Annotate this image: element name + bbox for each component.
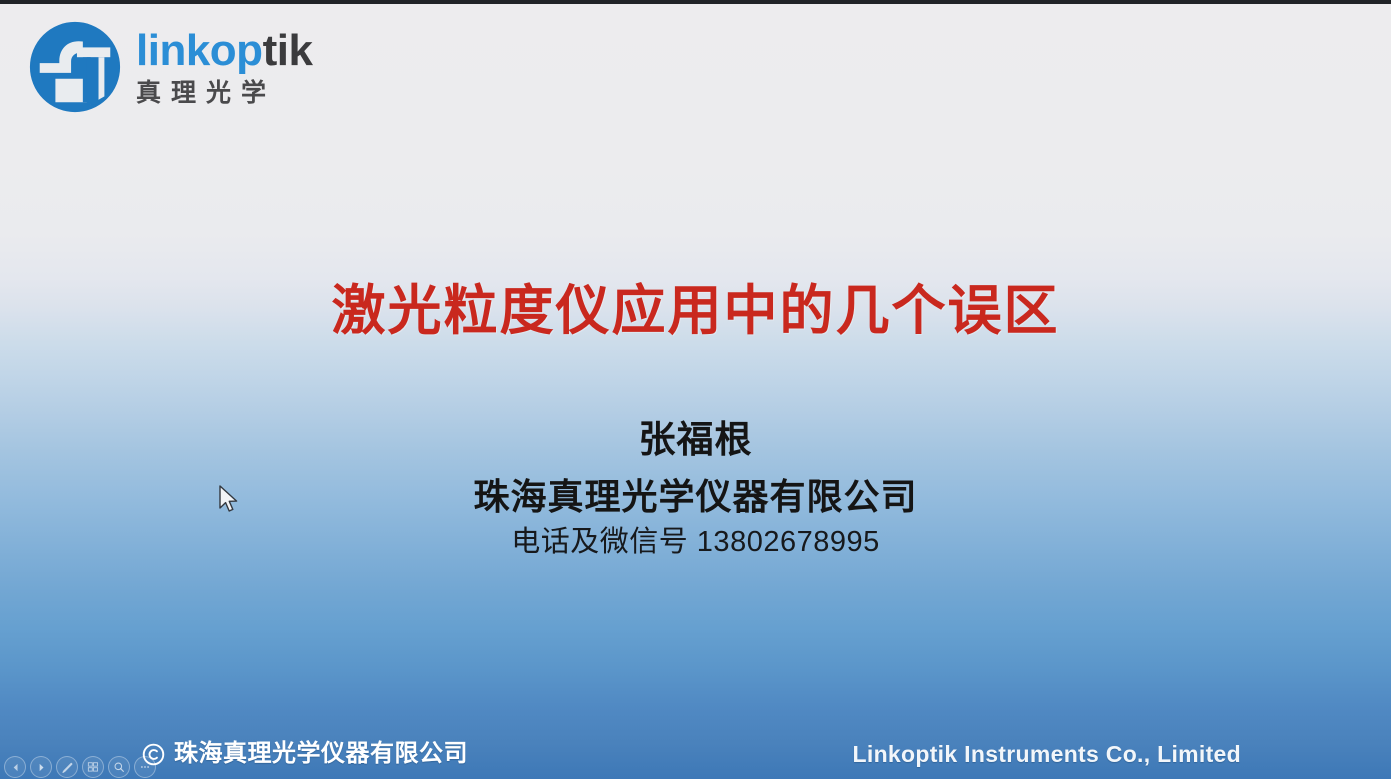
triangle-left-icon: [10, 762, 21, 773]
brand-logo-text: linkoptik 真理光学: [136, 26, 312, 108]
next-slide-button[interactable]: [30, 756, 52, 778]
magnifier-icon: [113, 761, 125, 773]
zoom-button[interactable]: [108, 756, 130, 778]
grid-slides-icon: [87, 761, 99, 773]
presenter-contact: 电话及微信号 13802678995: [0, 525, 1391, 560]
slide-canvas: linkoptik 真理光学 激光粒度仪应用中的几个误区 张福根 珠海真理光学仪…: [0, 3, 1391, 779]
footer-right-text: Linkoptik Instruments Co., Limited: [853, 743, 1241, 766]
brand-logo: linkoptik 真理光学: [26, 18, 312, 116]
all-slides-button[interactable]: [82, 756, 104, 778]
triangle-right-icon: [36, 762, 47, 773]
pen-tool-button[interactable]: [56, 756, 78, 778]
footer-left-text: 珠海真理光学仪器有限公司: [174, 742, 468, 766]
footer-left: 珠海真理光学仪器有限公司: [142, 742, 468, 766]
presentation-toolbar[interactable]: [4, 756, 156, 778]
linkoptik-circle-monogram-icon: [26, 18, 124, 116]
brand-wordmark: linkoptik: [136, 28, 312, 74]
slide-title: 激光粒度仪应用中的几个误区: [0, 280, 1391, 342]
ellipsis-icon: [139, 761, 151, 773]
more-options-button[interactable]: [134, 756, 156, 778]
presentation-slide-view: linkoptik 真理光学 激光粒度仪应用中的几个误区 张福根 珠海真理光学仪…: [0, 0, 1391, 779]
brand-subtitle: 真理光学: [136, 78, 312, 108]
letterbox-strip-top: [0, 0, 1391, 4]
presenter-company: 珠海真理光学仪器有限公司: [0, 475, 1391, 518]
previous-slide-button[interactable]: [4, 756, 26, 778]
wordmark-part-blue: linkop: [136, 26, 263, 75]
presenter-name: 张福根: [0, 418, 1391, 462]
wordmark-part-dark: tik: [263, 26, 313, 75]
pen-icon: [61, 761, 74, 774]
